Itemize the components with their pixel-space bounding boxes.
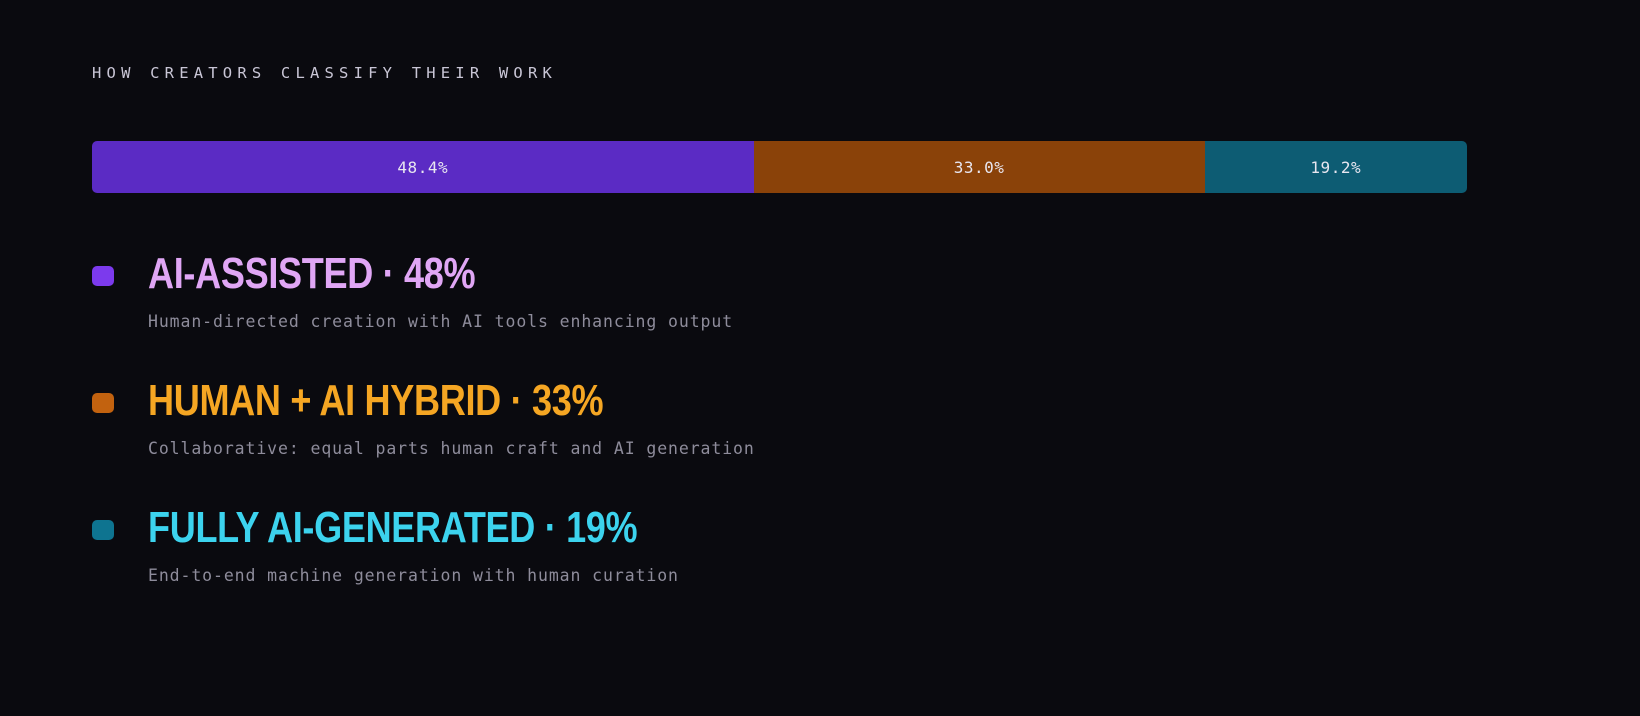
legend: AI-ASSISTED · 48% Human-directed creatio… [92,246,1492,627]
legend-swatch-icon [92,393,114,413]
bar-segment-label: 48.4% [397,158,448,177]
legend-swatch-icon [92,266,114,286]
bar-segment-label: 19.2% [1310,158,1361,177]
stacked-bar-chart: 48.4% 33.0% 19.2% [92,141,1467,193]
legend-item-fully-ai-generated[interactable]: FULLY AI-GENERATED · 19% End-to-end mach… [92,500,1492,627]
legend-item-description: End-to-end machine generation with human… [148,566,679,585]
bar-segment-fully-ai-generated[interactable]: 19.2% [1205,141,1467,193]
bar-segment-human-ai-hybrid[interactable]: 33.0% [754,141,1205,193]
legend-item-human-ai-hybrid[interactable]: HUMAN + AI HYBRID · 33% Collaborative: e… [92,373,1492,500]
legend-item-description: Human-directed creation with AI tools en… [148,312,733,331]
legend-item-heading: HUMAN + AI HYBRID · 33% [148,373,603,429]
page-title: HOW CREATORS CLASSIFY THEIR WORK [92,64,557,82]
bar-segment-ai-assisted[interactable]: 48.4% [92,141,754,193]
legend-item-description: Collaborative: equal parts human craft a… [148,439,755,458]
bar-segment-label: 33.0% [954,158,1005,177]
legend-swatch-icon [92,520,114,540]
legend-item-ai-assisted[interactable]: AI-ASSISTED · 48% Human-directed creatio… [92,246,1492,373]
legend-item-heading: FULLY AI-GENERATED · 19% [148,500,637,556]
legend-item-heading: AI-ASSISTED · 48% [148,246,475,302]
chart-page: HOW CREATORS CLASSIFY THEIR WORK 48.4% 3… [0,0,1640,716]
